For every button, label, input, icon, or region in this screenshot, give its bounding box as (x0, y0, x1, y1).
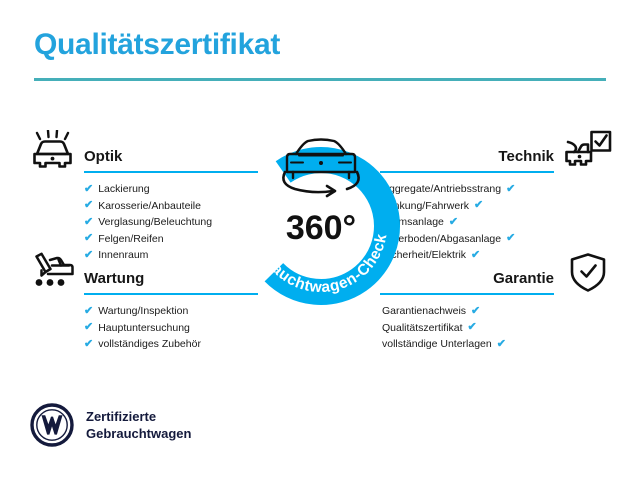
list-item-label: vollständige Unterlagen (382, 336, 492, 353)
service-pen-car-icon (28, 252, 76, 294)
list-item: ✔Verglasung/Beleuchtung (84, 214, 258, 231)
section-garantie-title: Garantie (493, 270, 554, 287)
list-item: ✔Felgen/Reifen (84, 231, 258, 248)
shield-check-icon (564, 252, 612, 294)
header-divider (34, 78, 606, 81)
car-checkbox-icon (564, 130, 612, 172)
check-icon: ✔ (84, 184, 93, 195)
check-icon: ✔ (468, 322, 477, 333)
badge-center-label: 360° (286, 209, 356, 247)
list-item: ✔Lackierung (84, 181, 258, 198)
section-wartung-title: Wartung (84, 270, 144, 287)
list-item: ✔Karosserie/Anbauteile (84, 198, 258, 215)
check-icon: ✔ (471, 306, 480, 317)
car-shine-icon (28, 130, 76, 172)
page-header: Qualitätszertifikat (34, 28, 606, 81)
list-item-label: Qualitätszertifikat (382, 320, 463, 337)
check-icon: ✔ (84, 306, 93, 317)
check-icon: ✔ (506, 184, 515, 195)
list-item-label: Hauptuntersuchung (98, 320, 190, 337)
list-item: ✔Hauptuntersuchung (84, 320, 258, 337)
list-item-label: Felgen/Reifen (98, 231, 163, 248)
list-item-label: Karosserie/Anbauteile (98, 198, 201, 215)
section-technik: Technik ✔Aggregate/Antriebsstrang ✔Lenku… (382, 128, 614, 264)
check-icon: ✔ (84, 200, 93, 211)
certificate-page: Qualitätszertifikat (0, 0, 640, 480)
page-title: Qualitätszertifikat (34, 28, 606, 61)
vw-logo (30, 403, 74, 447)
section-wartung-header: Wartung (26, 250, 258, 296)
list-item-label: Verglasung/Beleuchtung (98, 214, 212, 231)
vw-footer: Zertifizierte Gebrauchtwagen (30, 403, 191, 447)
badge-360-check: Gebrauchtwagen-Check 360° (233, 116, 409, 306)
section-wartung: Wartung ✔Wartung/Inspektion ✔Hauptunters… (26, 250, 258, 353)
vw-footer-line1: Zertifizierte (86, 409, 156, 424)
section-wartung-divider (84, 293, 258, 295)
check-icon: ✔ (474, 200, 483, 211)
check-icon: ✔ (497, 339, 506, 350)
vw-footer-line2: Gebrauchtwagen (86, 426, 191, 441)
check-icon: ✔ (84, 339, 93, 350)
section-wartung-list: ✔Wartung/Inspektion ✔Hauptuntersuchung ✔… (26, 296, 258, 353)
list-item: ✔Qualitätszertifikat (382, 320, 554, 337)
list-item-label: vollständiges Zubehör (98, 336, 201, 353)
section-garantie: Garantie ✔Garantienachweis ✔Qualitätszer… (382, 250, 614, 353)
check-icon: ✔ (84, 322, 93, 333)
section-optik: Optik ✔Lackierung ✔Karosserie/Anbauteile… (26, 128, 258, 264)
section-optik-header: Optik (26, 128, 258, 174)
section-optik-divider (84, 171, 258, 173)
section-optik-title: Optik (84, 148, 122, 165)
section-technik-title: Technik (498, 148, 554, 165)
check-icon: ✔ (449, 217, 458, 228)
list-item-label: Wartung/Inspektion (98, 303, 188, 320)
vw-footer-text: Zertifizierte Gebrauchtwagen (86, 408, 191, 442)
list-item: ✔vollständiges Zubehör (84, 336, 258, 353)
section-garantie-list: ✔Garantienachweis ✔Qualitätszertifikat ✔… (382, 296, 614, 353)
check-icon: ✔ (84, 217, 93, 228)
check-icon: ✔ (506, 233, 515, 244)
list-item: ✔Wartung/Inspektion (84, 303, 258, 320)
section-garantie-header: Garantie (382, 250, 614, 296)
check-icon: ✔ (84, 233, 93, 244)
list-item-label: Lackierung (98, 181, 149, 198)
list-item: ✔vollständige Unterlagen (382, 336, 554, 353)
section-technik-header: Technik (382, 128, 614, 174)
